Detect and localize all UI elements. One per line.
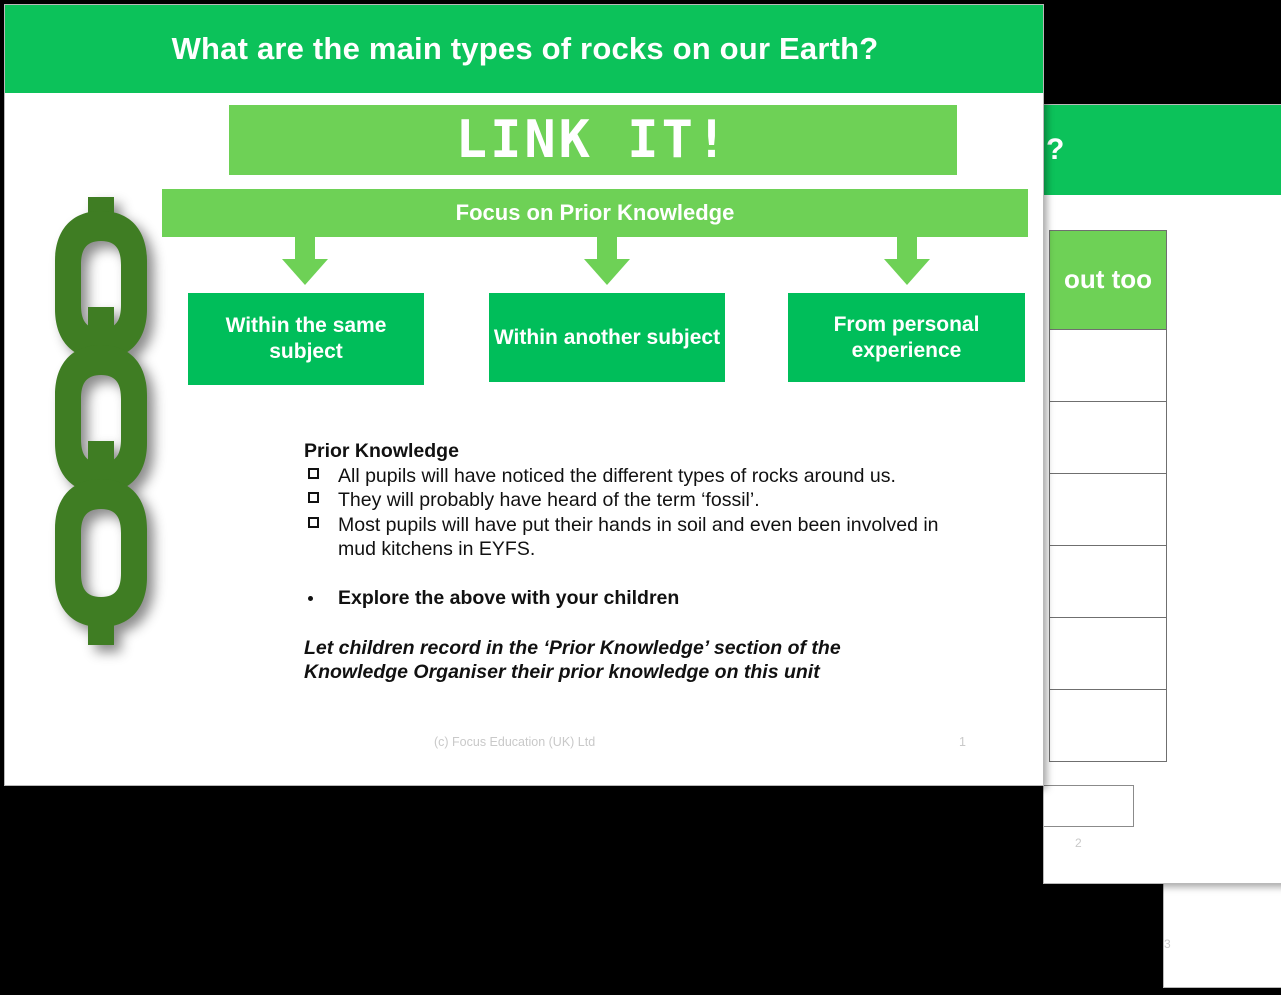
prior-knowledge-list: All pupils will have noticed the differe… [304, 464, 944, 562]
slide2-lower-table [1043, 785, 1134, 827]
table-row [1049, 690, 1167, 762]
bullet-dot-icon [308, 596, 313, 601]
arrow-head [282, 259, 328, 285]
page-title: What are the main types of rocks on our … [5, 5, 1044, 93]
table-row [1049, 330, 1167, 402]
slide-main-1[interactable]: What are the main types of rocks on our … [4, 4, 1044, 786]
table-row [1049, 546, 1167, 618]
record-note: Let children record in the ‘Prior Knowle… [304, 636, 944, 685]
table-row [1049, 618, 1167, 690]
list-item-label: They will probably have heard of the ter… [338, 489, 760, 511]
slide2-title: ? [1044, 105, 1281, 195]
presentation-canvas: ? now (c) Focus Education (UK) Ltd 3 ? o… [0, 0, 1281, 995]
option-box-within-another-subject: Within another subject [489, 293, 725, 382]
list-item-label: All pupils will have noticed the differe… [338, 465, 896, 487]
link-it-banner: LINK IT! [229, 105, 957, 175]
slide2-table: out too [1049, 230, 1167, 762]
option-box-within-same-subject: Within the same subject [188, 293, 424, 385]
slide1-page-number: 1 [959, 735, 966, 749]
down-arrow-icon [884, 237, 930, 285]
slide3-page-number: 3 [1164, 937, 1171, 951]
prior-knowledge-heading: Prior Knowledge [304, 440, 944, 463]
slide-thumbnail-2[interactable]: ? out too (c) Focus Education (UK) Ltd 2 [1043, 104, 1281, 884]
explore-instruction: Explore the above with your children [304, 587, 944, 610]
arrow-stem [295, 237, 315, 261]
list-item: They will probably have heard of the ter… [304, 488, 944, 512]
checkbox-icon [308, 517, 319, 528]
focus-on-prior-knowledge-bar: Focus on Prior Knowledge [162, 189, 1028, 237]
arrow-head [884, 259, 930, 285]
list-item-label: Most pupils will have put their hands in… [338, 514, 939, 560]
arrow-head [584, 259, 630, 285]
checkbox-icon [308, 468, 319, 479]
table-row: out too [1049, 230, 1167, 330]
down-arrow-icon [282, 237, 328, 285]
checkbox-icon [308, 492, 319, 503]
down-arrow-icon [584, 237, 630, 285]
arrow-stem [897, 237, 917, 261]
table-row [1049, 402, 1167, 474]
table-row [1049, 474, 1167, 546]
arrow-stem [597, 237, 617, 261]
slide2-page-number: 2 [1075, 836, 1082, 850]
prior-knowledge-body: Prior Knowledge All pupils will have not… [304, 440, 944, 685]
explore-label: Explore the above with your children [338, 587, 679, 609]
list-item: Most pupils will have put their hands in… [304, 513, 944, 562]
option-box-from-personal-experience: From personal experience [788, 293, 1025, 382]
chain-link-icon [49, 197, 153, 645]
slide1-copyright: (c) Focus Education (UK) Ltd [434, 735, 595, 749]
list-item: All pupils will have noticed the differe… [304, 464, 944, 488]
